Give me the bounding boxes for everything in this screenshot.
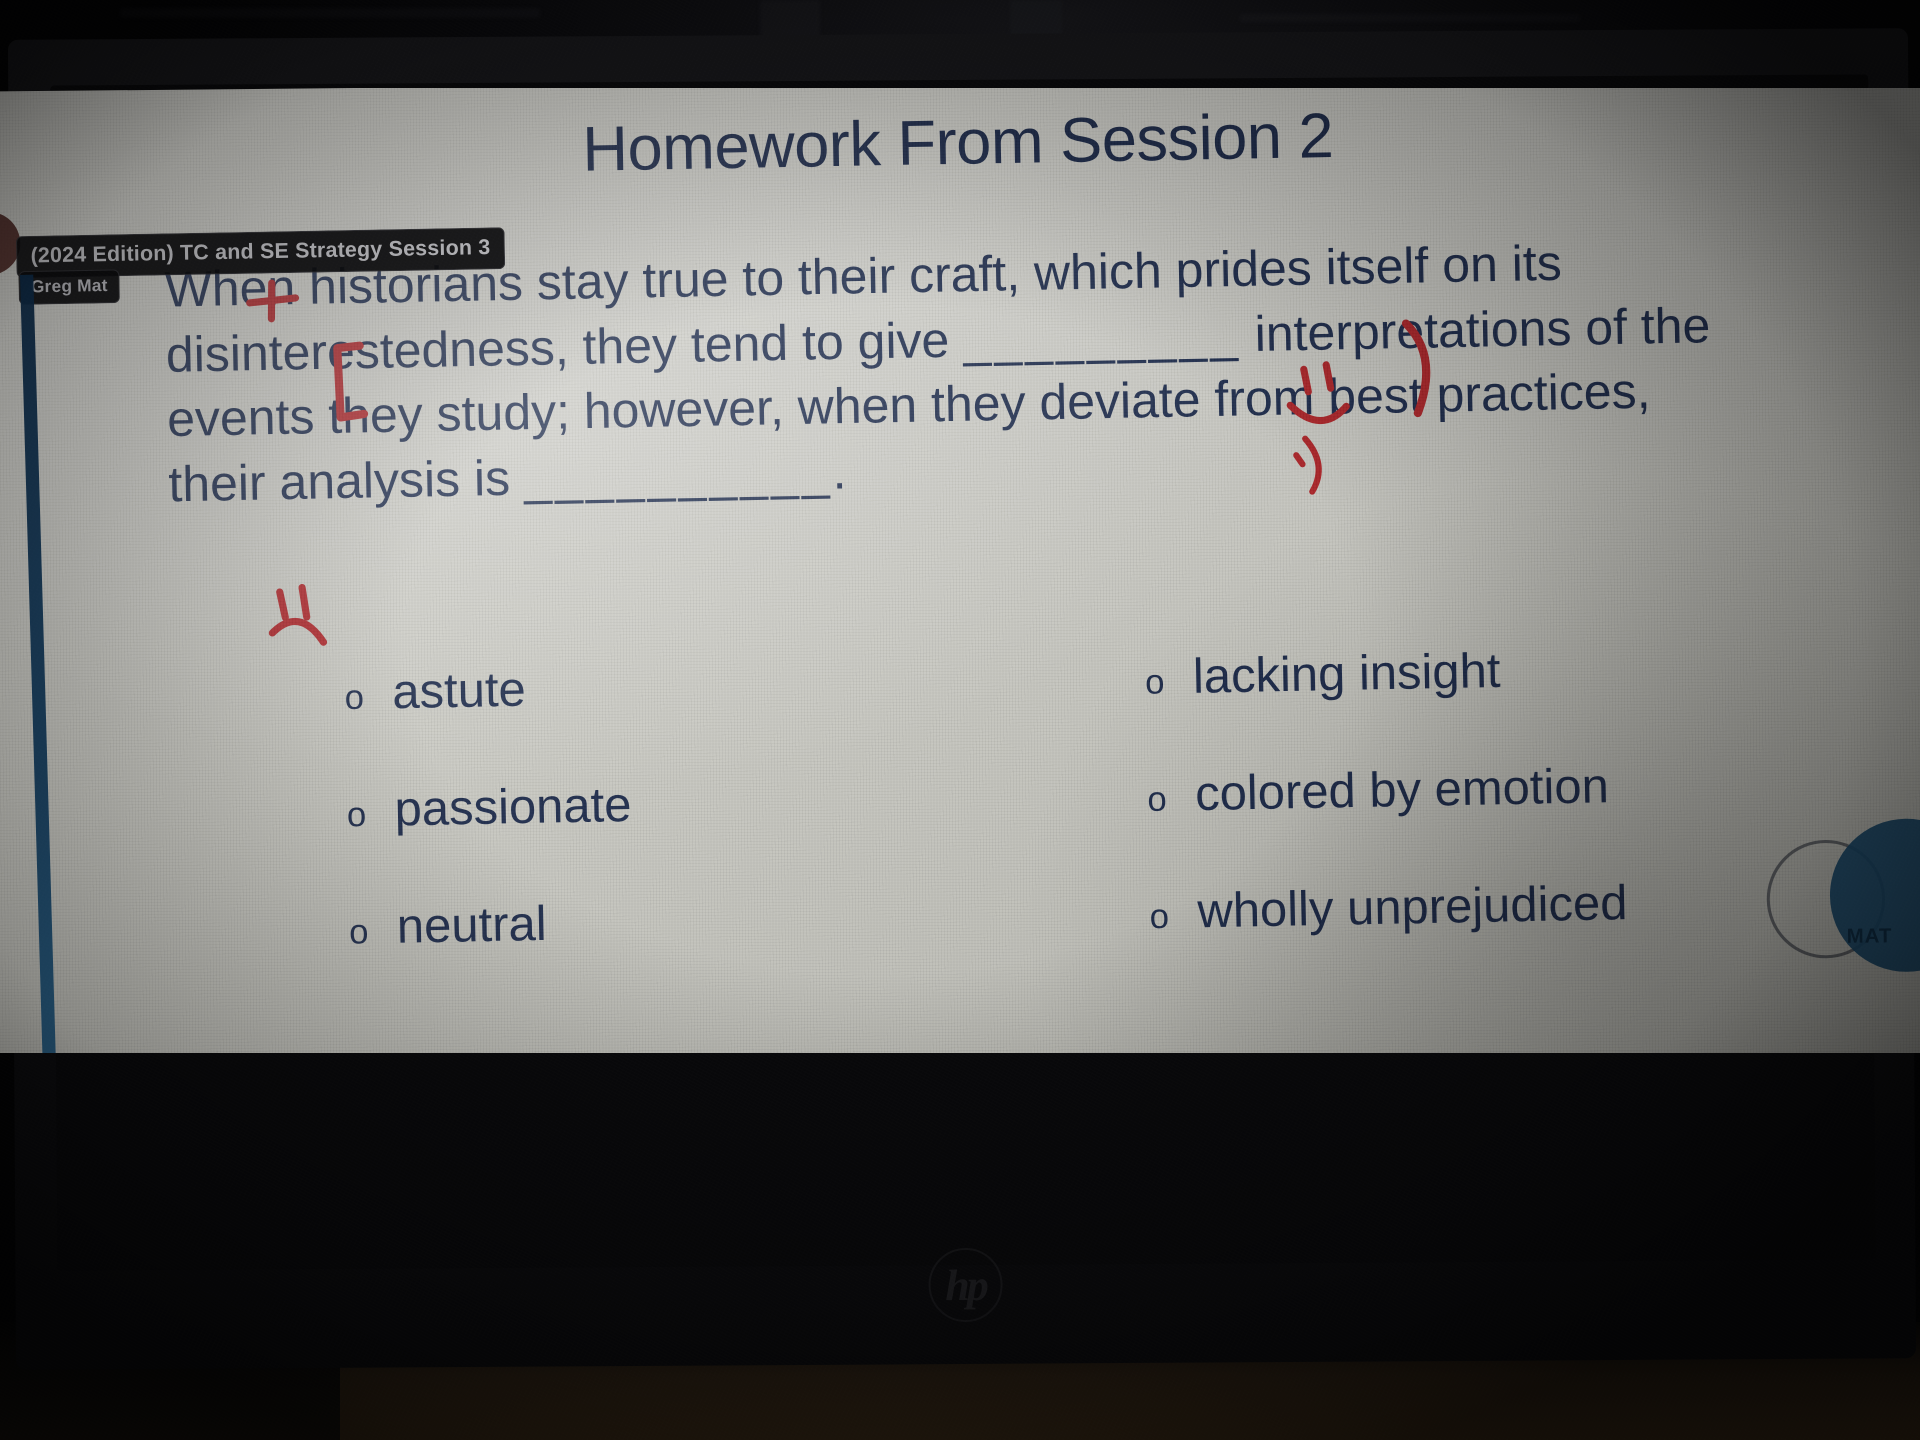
option-label: colored by emotion [1195,758,1610,822]
option-passionate[interactable]: o passionate [346,771,964,839]
option-label: lacking insight [1192,643,1501,705]
option-astute[interactable]: o astute [344,653,962,721]
frowny-face-annotation [271,587,323,643]
radio-bullet-icon: o [1147,782,1167,817]
option-lacking-insight[interactable]: o lacking insight [1145,635,1920,706]
radio-bullet-icon: o [344,680,364,715]
answer-options: o astute o passionate o neutral [0,635,1920,1024]
greg-mat-watermark: MAT [1766,827,1920,1000]
prompt-period: . [832,445,847,500]
page-title: Homework From Session 2 [0,89,1920,197]
laptop-screen: Homework From Session 2 When historians … [0,88,1920,1053]
watermark-label: MAT [1847,925,1893,949]
option-label: neutral [396,896,547,955]
radio-bullet-icon: o [1145,665,1165,700]
screen-surface: Homework From Session 2 When historians … [0,88,1920,1053]
answer-blank-2: __________ [523,441,833,512]
option-neutral[interactable]: o neutral [348,888,966,956]
option-label: wholly unprejudiced [1197,875,1628,939]
question-prompt: When historians stay true to their craft… [164,228,1760,518]
answer-blank-1: _________ [963,303,1242,373]
option-colored-by-emotion[interactable]: o colored by emotion [1147,752,1920,823]
option-label: passionate [394,777,632,838]
radio-bullet-icon: o [349,915,369,950]
option-label: astute [392,662,526,721]
photo-of-laptop-screen: hp Homework From Session 2 When historia… [0,0,1920,1440]
radio-bullet-icon: o [347,797,367,832]
answer-options-left-column: o astute o passionate o neutral [0,653,968,1024]
background-clutter-streak-3 [1240,14,1580,22]
background-clutter-streak-2 [120,8,540,18]
radio-bullet-icon: o [1149,899,1169,934]
hp-logo-icon: hp [928,1248,1002,1322]
